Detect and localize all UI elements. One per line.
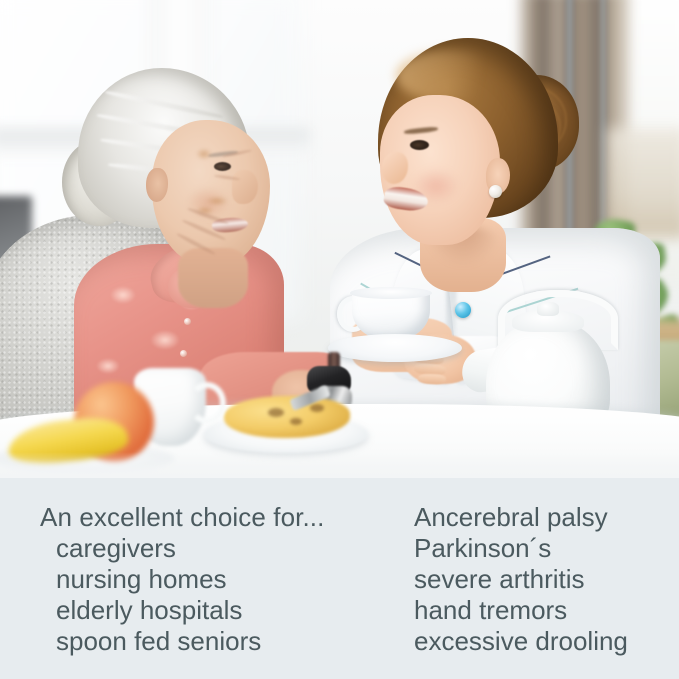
list-item: severe arthritis <box>414 564 679 595</box>
benefits-columns: An excellent choice for... caregivers nu… <box>0 478 679 679</box>
elderly-neck <box>178 248 248 308</box>
caregiver-finger <box>418 374 446 385</box>
saucer <box>328 334 462 362</box>
list-item: Ancerebral palsy <box>414 502 679 533</box>
product-image: An excellent choice for... caregivers nu… <box>0 0 679 679</box>
list-item: excessive drooling <box>414 626 679 657</box>
list-item: elderly hospitals <box>40 595 400 626</box>
food-detail <box>310 404 324 412</box>
conditions-list: Ancerebral palsy Parkinson´s severe arth… <box>414 502 679 657</box>
blouse-button <box>180 350 187 357</box>
list-item: Parkinson´s <box>414 533 679 564</box>
plated-food <box>224 396 350 438</box>
caregiver-eye <box>410 140 429 150</box>
teacup-rim <box>350 287 432 299</box>
pearl-earring <box>489 185 502 198</box>
age-spot <box>206 196 228 206</box>
photo-bottom-fade <box>0 452 679 478</box>
uniform-blue-button <box>455 302 471 318</box>
blouse-button <box>184 318 191 325</box>
benefits-heading: An excellent choice for... <box>40 502 400 533</box>
list-item: spoon fed seniors <box>40 626 400 657</box>
creamer-jug-handle <box>188 382 226 424</box>
list-item: nursing homes <box>40 564 400 595</box>
food-detail <box>268 408 284 417</box>
age-spot <box>196 148 212 160</box>
elderly-eye <box>214 162 231 171</box>
curtain-rod-secondary <box>600 0 606 242</box>
list-item: hand tremors <box>414 595 679 626</box>
lifestyle-photo <box>0 0 679 478</box>
left-column: An excellent choice for... caregivers nu… <box>0 478 400 679</box>
teapot-lid-knob <box>537 302 559 316</box>
benefits-panel: An excellent choice for... caregivers nu… <box>0 478 679 679</box>
audience-list: caregivers nursing homes elderly hospita… <box>40 533 400 657</box>
right-column: Ancerebral palsy Parkinson´s severe arth… <box>400 478 679 679</box>
list-item: caregivers <box>40 533 400 564</box>
caregiver-hair-highlight <box>396 50 506 102</box>
food-detail <box>290 418 302 425</box>
